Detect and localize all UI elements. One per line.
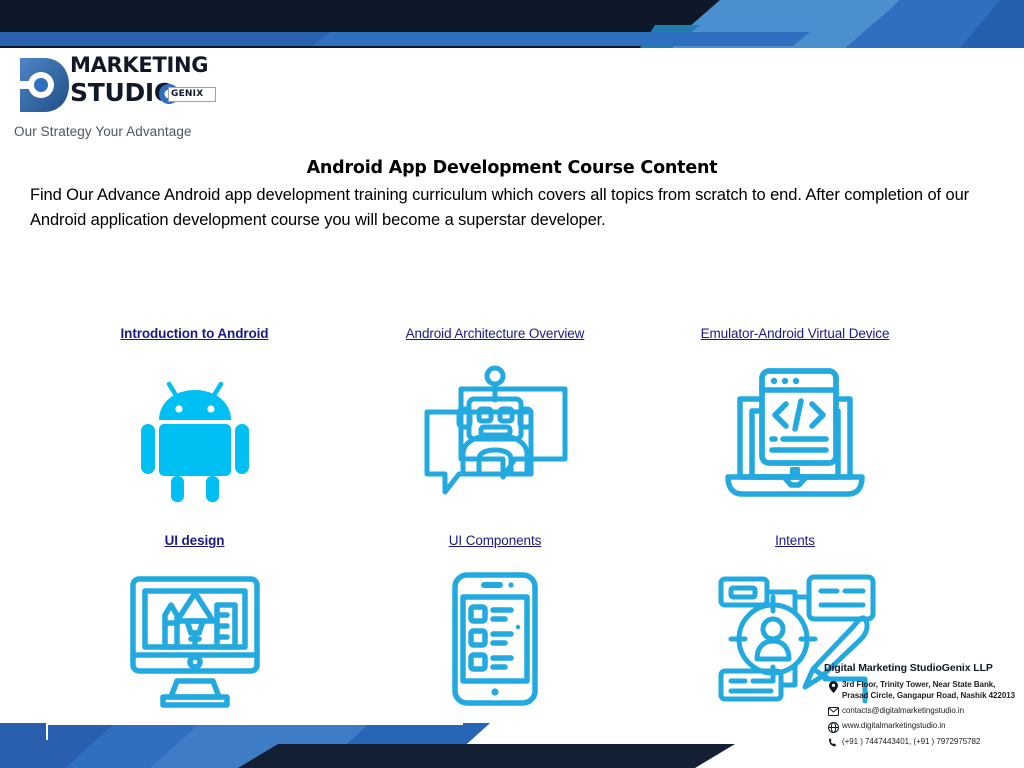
topic-link-intents[interactable]: Intents — [775, 533, 815, 548]
contact-email-text[interactable]: contacts@digitalmarketingstudio.in — [842, 706, 964, 717]
contact-phone-text[interactable]: (+91 ) 7447443401, (+91 ) 7972975782 — [842, 737, 980, 748]
header-dark-band — [0, 0, 1024, 48]
header-dark-band-main — [0, 0, 760, 48]
logo-d-mark-icon — [14, 54, 70, 116]
topic-card-android-architecture-overview[interactable]: Android Architecture Overview — [345, 326, 645, 507]
location-pin-icon — [824, 680, 842, 693]
footer-blue-slab-4 — [320, 723, 490, 768]
topic-card-ui-components[interactable]: UI Components — [345, 533, 645, 714]
contact-phone-line[interactable]: (+91 ) 7447443401, (+91 ) 7972975782 — [824, 737, 1024, 748]
smartphone-list-icon — [447, 569, 543, 709]
topic-card-introduction-to-android[interactable]: Introduction to Android — [44, 326, 345, 507]
phone-icon — [824, 737, 842, 748]
topic-row-1: Introduction to Android — [0, 326, 1024, 507]
footer-blue-slab-1 — [0, 723, 490, 768]
contact-card: Digital Marketing StudioGenix LLP 3rd Fl… — [824, 662, 1024, 753]
logo-wordmark: MARKETING STUDIO GENIX — [70, 52, 208, 108]
topic-icon-wrap-2 — [419, 357, 571, 507]
footer-white-line-edge — [46, 723, 48, 740]
topic-grid: Introduction to Android — [0, 326, 1024, 714]
topic-link-ui-design[interactable]: UI design — [165, 533, 225, 548]
header-blue-slab-2 — [845, 0, 1024, 48]
topic-icon-wrap-4 — [125, 564, 265, 714]
topic-card-emulator-android-virtual-device[interactable]: Emulator-Android Virtual Device — [645, 326, 945, 507]
globe-icon — [824, 721, 842, 733]
topic-link-android-architecture-overview[interactable]: Android Architecture Overview — [406, 326, 585, 341]
laptop-code-icon — [722, 359, 868, 505]
topic-icon-wrap-3 — [722, 357, 868, 507]
logo-block[interactable]: MARKETING STUDIO GENIX Our Strategy Your… — [14, 52, 244, 139]
topic-link-ui-components[interactable]: UI Components — [449, 533, 542, 548]
header-thin-blue-bar-dark — [0, 32, 330, 46]
contact-email-line[interactable]: contacts@digitalmarketingstudio.in — [824, 706, 1024, 717]
header-blue-slab-1 — [665, 0, 900, 48]
logo-line-marketing: MARKETING — [70, 52, 208, 78]
contact-address-line2: Prasad Circle, Gangapur Road, Nashik 422… — [842, 691, 1015, 700]
topic-link-emulator-android-virtual-device[interactable]: Emulator-Android Virtual Device — [701, 326, 890, 341]
robot-speech-bubble-icon — [419, 362, 571, 502]
logo-row: MARKETING STUDIO GENIX — [14, 52, 244, 122]
monitor-design-tools-icon — [125, 569, 265, 709]
contact-website-text[interactable]: www.digitalmarketingstudio.in — [842, 721, 946, 732]
logo-line-studio: STUDIO GENIX — [70, 78, 208, 108]
footer-white-line — [48, 723, 463, 725]
topic-icon-wrap-5 — [447, 564, 543, 714]
topic-card-ui-design[interactable]: UI design — [44, 533, 345, 714]
footer-blue-slab-2 — [0, 723, 115, 768]
footer-dark-slab — [238, 744, 735, 768]
contact-address-line1: 3rd Floor, Trinity Tower, Near State Ban… — [842, 680, 995, 689]
envelope-icon — [824, 706, 842, 716]
page-intro-text: Find Our Advance Android app development… — [30, 183, 970, 233]
topic-icon-wrap-1 — [139, 357, 251, 507]
logo-tagline: Our Strategy Your Advantage — [14, 124, 244, 139]
contact-website-line[interactable]: www.digitalmarketingstudio.in — [824, 721, 1024, 733]
contact-address-text: 3rd Floor, Trinity Tower, Near State Ban… — [842, 680, 1015, 701]
footer-blue-slab-3 — [150, 723, 490, 768]
logo-genix-badge: GENIX — [168, 87, 216, 102]
page-title: Android App Development Course Content — [0, 158, 1024, 178]
topic-link-introduction-to-android[interactable]: Introduction to Android — [121, 326, 269, 341]
header-blue-slab-3 — [960, 0, 1024, 48]
android-robot-icon — [139, 362, 251, 502]
header-thin-blue-bar — [0, 32, 810, 46]
contact-address-line: 3rd Floor, Trinity Tower, Near State Ban… — [824, 680, 1024, 701]
slide-canvas: MARKETING STUDIO GENIX Our Strategy Your… — [0, 0, 1024, 768]
header-blue-accent — [640, 25, 700, 48]
contact-company-name: Digital Marketing StudioGenix LLP — [824, 662, 1024, 674]
